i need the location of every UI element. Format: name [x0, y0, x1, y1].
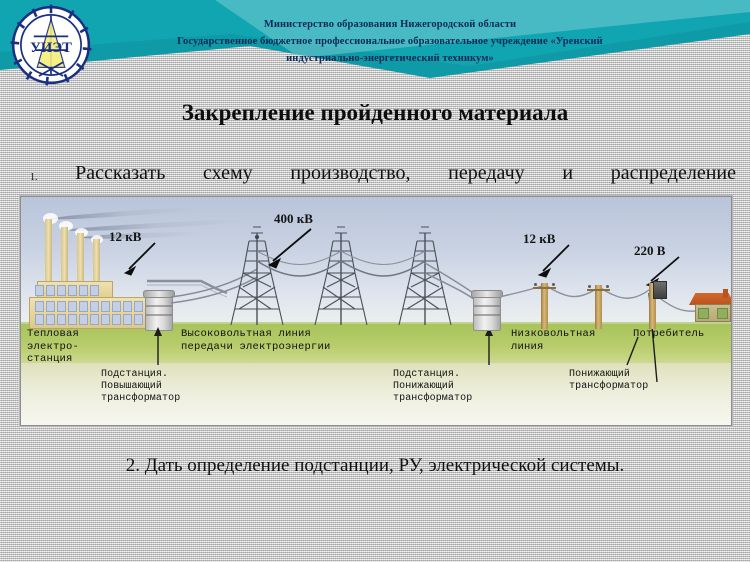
pole-insulator [588, 285, 591, 288]
transformer-cap [143, 290, 175, 298]
task-1-word-0: Рассказать [75, 162, 165, 185]
header-line-1: Министерство образования Нижегородской о… [105, 16, 675, 33]
caption-line: Понижающий [393, 381, 472, 393]
band-label-line: Высоковольтная линия [181, 328, 331, 341]
caption-line: трансформатор [393, 393, 472, 405]
plant-window [79, 314, 88, 325]
step-down-transformer-unit [473, 293, 501, 331]
voltage-label-12kv-left: 12 кВ [109, 229, 141, 245]
pole-insulator [534, 283, 537, 286]
plant-window [46, 314, 55, 325]
plant-window [57, 285, 66, 296]
plant-window [90, 285, 99, 296]
transformer-ring [146, 314, 172, 316]
pole-insulator [606, 285, 609, 288]
plant-window [79, 285, 88, 296]
plant-window [112, 314, 121, 325]
caption-line: Подстанция. [101, 369, 180, 381]
task-1-line: 1. Рассказать схему производство, переда… [30, 162, 736, 185]
plant-window [35, 314, 44, 325]
band-label-line: Потребитель [633, 328, 705, 341]
voltage-label-400kv: 400 кВ [274, 211, 313, 227]
band-label-line: станция [27, 353, 79, 366]
transformer-ring [474, 305, 500, 307]
plant-chimney-1 [45, 219, 52, 281]
transformer-cap [471, 290, 503, 298]
power-system-diagram: 12 кВ 400 кВ 12 кВ 220 В Тепловая электр… [20, 196, 732, 426]
utility-pole-2 [595, 285, 602, 329]
plant-window [57, 301, 66, 312]
plant-chimney-2 [61, 227, 68, 281]
plant-window [68, 301, 77, 312]
plant-window [101, 301, 110, 312]
header-line-2: Государственное бюджетное профессиональн… [105, 33, 675, 50]
voltage-label-12kv-right: 12 кВ [523, 231, 555, 247]
task-1-word-1: схему [203, 162, 253, 185]
caption-step-down-substation: Подстанция. Понижающий трансформатор [393, 369, 472, 405]
caption-pole-transformer: Понижающий трансформатор [569, 369, 648, 393]
institute-name-block: Министерство образования Нижегородской о… [105, 16, 675, 67]
transformer-ring [474, 314, 500, 316]
plant-window [68, 314, 77, 325]
task-1-word-5: распределение [611, 162, 736, 185]
band-label-line: Тепловая [27, 328, 79, 341]
slide-header: УИЭТ Министерство образования Нижегородс… [0, 0, 750, 92]
band-label-line: электро- [27, 341, 79, 354]
header-line-3: индустриально-энергетический техникум» [105, 50, 675, 67]
plant-window [35, 301, 44, 312]
plant-chimney-3 [77, 233, 84, 281]
transformer-ring [146, 305, 172, 307]
institute-logo-icon: УИЭТ [8, 2, 94, 88]
band-label-consumer: Потребитель [633, 328, 705, 341]
plant-chimney-4 [93, 239, 100, 281]
task-2-line: 2. Дать определение подстанции, РУ, элек… [0, 455, 750, 477]
plant-window [79, 301, 88, 312]
plant-window [46, 301, 55, 312]
house-chimney [723, 289, 728, 298]
band-label-lv-line: Низковольтная линия [511, 328, 596, 353]
page-title: Закрепление пройденного материала [0, 100, 750, 126]
pole-mounted-transformer [653, 281, 667, 299]
plant-window [101, 314, 110, 325]
band-label-hv-line: Высоковольтная линия передачи электроэне… [181, 328, 331, 353]
logo-abbreviation: УИЭТ [30, 40, 72, 56]
plant-window [90, 301, 99, 312]
band-label-line: Низковольтная [511, 328, 596, 341]
voltage-label-220v: 220 В [634, 243, 665, 259]
task-1-word-2: производство, [290, 162, 410, 185]
pole-insulator [552, 283, 555, 286]
plant-window [57, 314, 66, 325]
caption-line: Повышающий [101, 381, 180, 393]
task-1-number: 1. [30, 172, 38, 185]
house-window-left [698, 308, 709, 319]
plant-window-row-1 [35, 285, 99, 296]
caption-line: Подстанция. [393, 369, 472, 381]
caption-line: трансформатор [101, 393, 180, 405]
plant-window [134, 301, 143, 312]
plant-window [134, 314, 143, 325]
pole-crossarm [533, 287, 556, 289]
band-label-line: линия [511, 341, 596, 354]
plant-window [46, 285, 55, 296]
plant-window [35, 285, 44, 296]
caption-step-up-substation: Подстанция. Повышающий трансформатор [101, 369, 180, 405]
house-window-right [717, 308, 728, 319]
plant-window [68, 285, 77, 296]
band-label-power-plant: Тепловая электро- станция [27, 328, 79, 366]
caption-line: трансформатор [569, 381, 648, 393]
diagram-green-label-band [21, 324, 731, 366]
pole-crossarm [587, 289, 610, 291]
plant-window [112, 301, 121, 312]
slide-canvas: УИЭТ Министерство образования Нижегородс… [0, 0, 750, 562]
plant-window [123, 301, 132, 312]
task-1-word-4: и [562, 162, 573, 185]
caption-line: Понижающий [569, 369, 648, 381]
step-up-transformer-unit [145, 293, 173, 331]
plant-window [123, 314, 132, 325]
band-label-line: передачи электроэнергии [181, 341, 331, 354]
task-1-word-3: передачу [448, 162, 525, 185]
utility-pole-1 [541, 283, 548, 329]
plant-window [90, 314, 99, 325]
